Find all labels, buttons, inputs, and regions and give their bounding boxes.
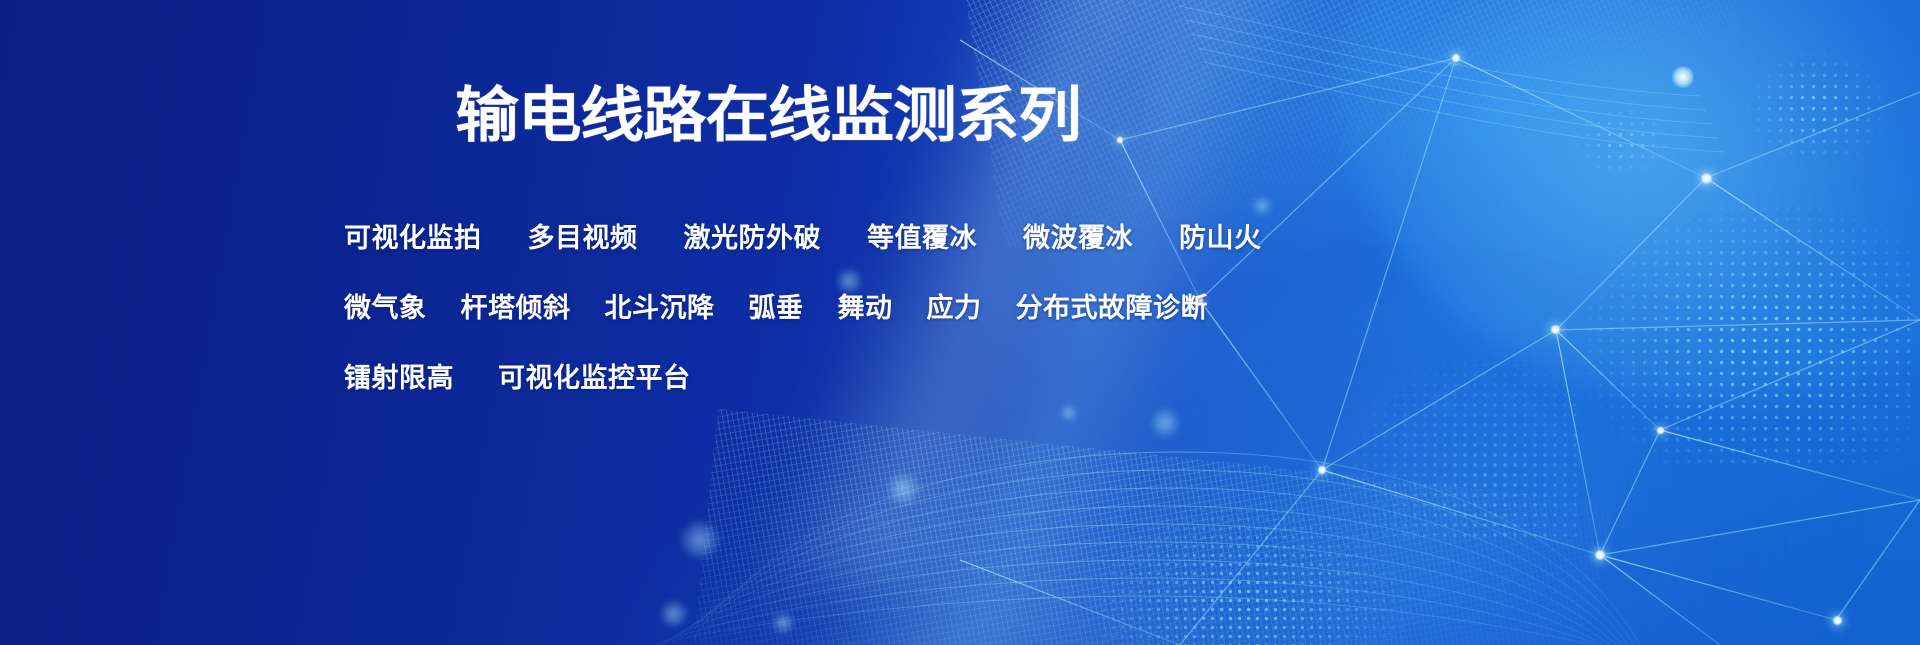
page-title: 输电线路在线监测系列 xyxy=(0,86,1582,146)
feature-tag-wildfire-prevention[interactable]: 防山火 xyxy=(1179,225,1262,252)
feature-tag-laser-height-limit[interactable]: 镭射限高 xyxy=(344,365,454,392)
feature-tag-multi-lens-video[interactable]: 多目视频 xyxy=(528,225,638,252)
feature-tag-sag[interactable]: 弧垂 xyxy=(749,295,804,322)
feature-tag-list: 可视化监拍 多目视频 激光防外破 等值覆冰 微波覆冰 防山火 微气象 杆塔倾斜 … xyxy=(344,203,1304,413)
banner: 输电线路在线监测系列 可视化监拍 多目视频 激光防外破 等值覆冰 微波覆冰 防山… xyxy=(0,0,1920,645)
feature-tag-equivalent-icing[interactable]: 等值覆冰 xyxy=(867,225,977,252)
feature-tag-visual-monitoring-platform[interactable]: 可视化监控平台 xyxy=(498,365,691,392)
banner-content: 输电线路在线监测系列 可视化监拍 多目视频 激光防外破 等值覆冰 微波覆冰 防山… xyxy=(0,0,1920,645)
feature-tag-beidou-settlement[interactable]: 北斗沉降 xyxy=(605,295,715,322)
feature-tag-microwave-icing[interactable]: 微波覆冰 xyxy=(1023,225,1133,252)
feature-tag-tower-tilt[interactable]: 杆塔倾斜 xyxy=(461,295,571,322)
feature-tag-row: 可视化监拍 多目视频 激光防外破 等值覆冰 微波覆冰 防山火 xyxy=(344,203,1304,273)
feature-tag-micro-meteorology[interactable]: 微气象 xyxy=(344,295,427,322)
feature-tag-visual-monitoring[interactable]: 可视化监拍 xyxy=(344,225,482,252)
feature-tag-row: 镭射限高 可视化监控平台 xyxy=(344,343,1304,413)
feature-tag-stress[interactable]: 应力 xyxy=(927,295,982,322)
feature-tag-galloping[interactable]: 舞动 xyxy=(838,295,893,322)
feature-tag-distributed-fault-diagnosis[interactable]: 分布式故障诊断 xyxy=(1016,295,1209,322)
feature-tag-laser-anti-damage[interactable]: 激光防外破 xyxy=(684,225,822,252)
feature-tag-row: 微气象 杆塔倾斜 北斗沉降 弧垂 舞动 应力 分布式故障诊断 xyxy=(344,273,1304,343)
